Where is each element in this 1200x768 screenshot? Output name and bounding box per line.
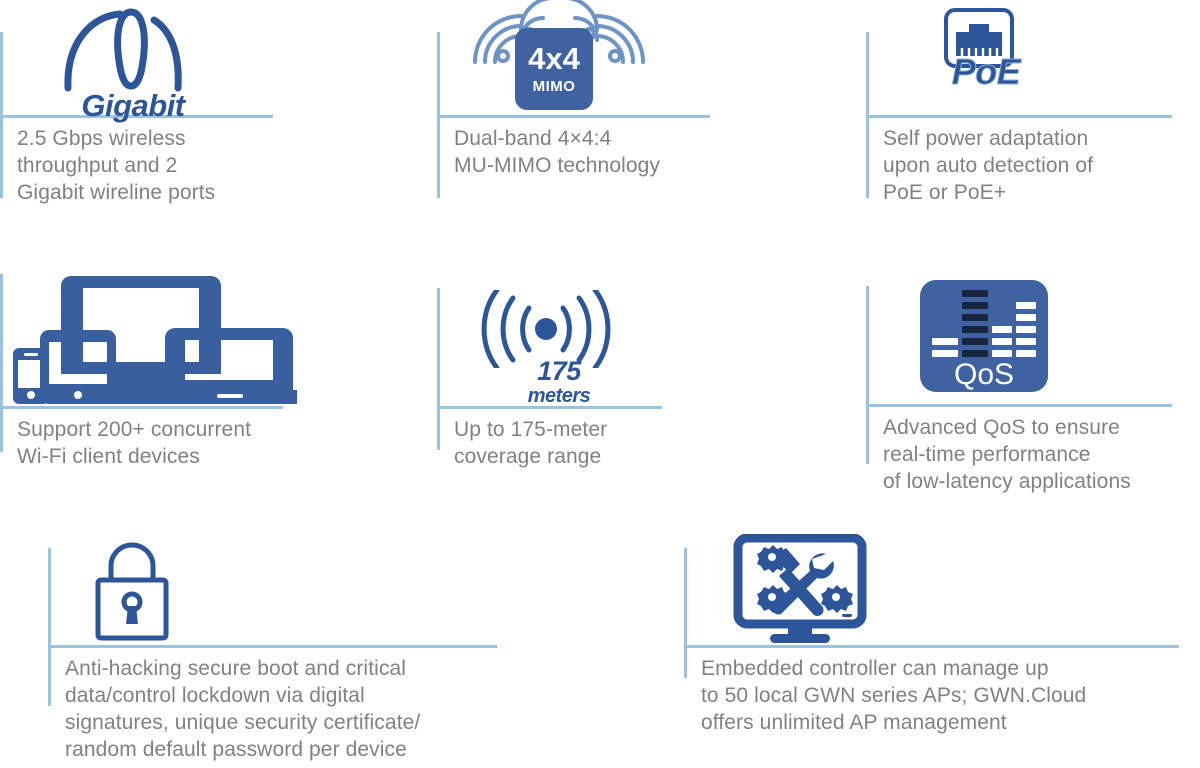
feature-card-security: Anti-hacking secure boot and critical da… [48,548,518,763]
mimo-badge-subtitle: MIMO [533,78,576,95]
range-unit-label: meters [459,386,659,406]
feature-card-poe: PoE Self power adaptation upon auto dete… [866,28,1186,228]
accent-vertical-bar [866,286,869,464]
accent-divider [3,406,283,409]
mimo-badge-title: 4x4 [528,43,580,74]
feature-caption: 2.5 Gbps wireless throughput and 2 Gigab… [17,125,307,206]
accent-vertical-bar [0,274,3,452]
feature-caption: Embedded controller can manage up to 50 … [701,655,1200,736]
accent-vertical-bar [684,548,687,678]
feature-card-clients: Support 200+ concurrent Wi-Fi client dev… [0,272,320,472]
padlock-icon [68,536,228,646]
qos-badge: QoS [920,280,1048,392]
feature-caption: Anti-hacking secure boot and critical da… [65,655,535,763]
feature-grid: Gigabit 2.5 Gbps wireless throughput and… [0,0,1200,768]
feature-card-mimo: 4x4 MIMO Dual-band 4×4:4 MU-MIMO technol… [437,28,737,228]
qos-badge-label: QoS [954,360,1014,390]
accent-divider [869,115,1172,118]
feature-caption: Advanced QoS to ensure real-time perform… [883,414,1200,495]
accent-vertical-bar [437,288,440,450]
mimo-badge-icon: 4x4 MIMO [447,0,677,120]
poe-ethernet-port-icon: PoE [886,4,1086,114]
multi-device-icon [8,272,298,406]
poe-wordmark: PoE [886,54,1086,90]
accent-vertical-bar [48,548,51,706]
coverage-range-icon: 175 meters [459,284,659,404]
qos-equalizer-icon: QoS [884,280,1084,400]
feature-card-qos: QoS Advanced QoS to ensure real-time per… [866,282,1200,492]
feature-caption: Self power adaptation upon auto detectio… [883,125,1193,206]
feature-card-controller: Embedded controller can manage up to 50 … [684,548,1184,763]
feature-caption: Support 200+ concurrent Wi-Fi client dev… [17,416,327,470]
feature-caption: Dual-band 4×4:4 MU-MIMO technology [454,125,744,179]
gigabit-wordmark: Gigabit [18,90,248,121]
range-value-label: 175 [459,358,659,385]
accent-divider [869,404,1172,407]
feature-card-gigabit: Gigabit 2.5 Gbps wireless throughput and… [0,28,300,228]
feature-card-range: 175 meters Up to 175-meter coverage rang… [437,288,737,488]
monitor-tools-icon [712,534,892,646]
mimo-badge: 4x4 MIMO [515,28,593,110]
feature-caption: Up to 175-meter coverage range [454,416,744,470]
